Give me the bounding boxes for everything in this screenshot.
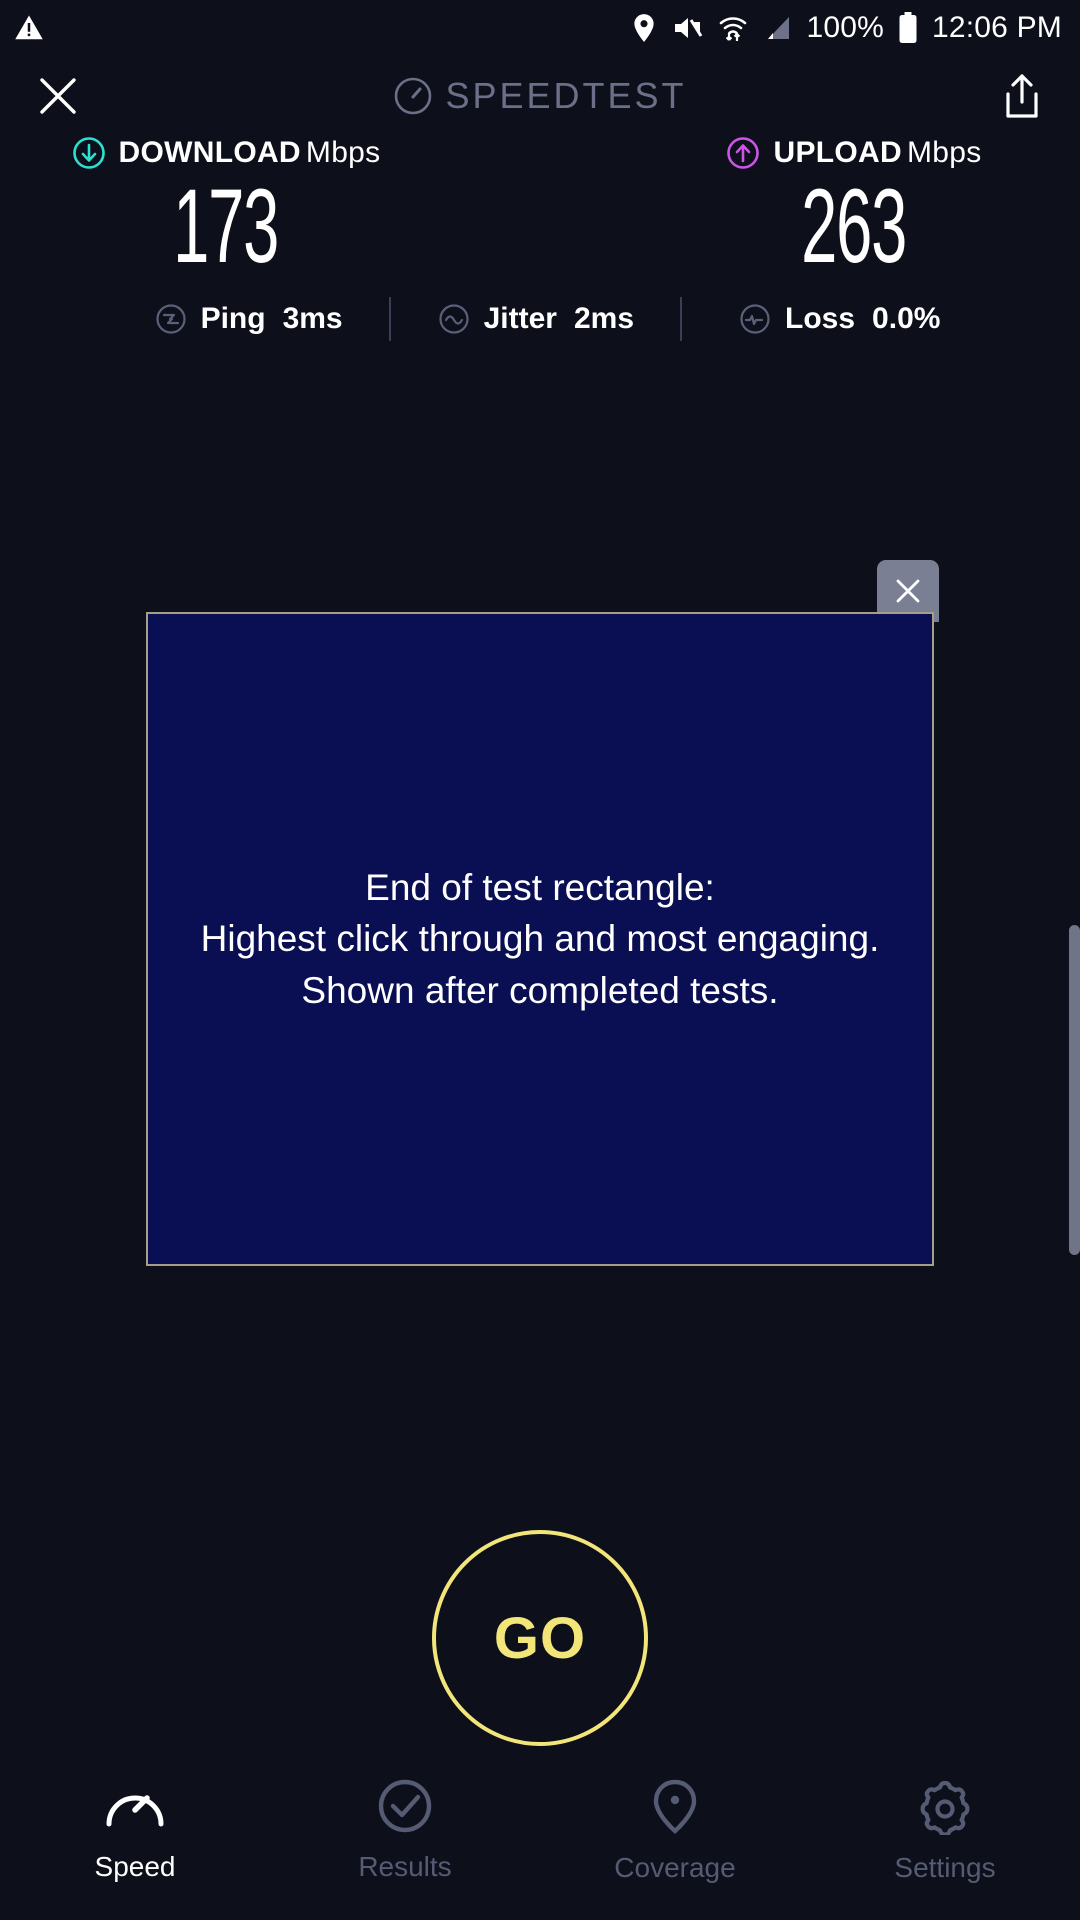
status-bar: 100% 12:06 PM: [0, 0, 1080, 56]
download-upload-row: DOWNLOADMbps 173 UPLOADMbps 263: [0, 136, 1080, 279]
metrics-row: Ping 3ms Jitter 2ms: [0, 297, 1080, 341]
upload-header: UPLOADMbps: [726, 136, 981, 170]
upload-arrow-icon: [726, 136, 760, 170]
status-bar-left: [14, 13, 44, 43]
scrollbar-thumb[interactable]: [1069, 925, 1080, 1255]
loss-label: Loss: [785, 302, 855, 336]
check-circle-icon: [375, 1778, 435, 1834]
volume-muted-icon: [672, 13, 704, 43]
ad-banner[interactable]: End of test rectangle: Highest click thr…: [146, 612, 934, 1266]
location-pin-icon: [630, 13, 658, 43]
nav-label-settings: Settings: [894, 1852, 995, 1884]
close-icon: [34, 72, 82, 120]
brand-title: SPEEDTEST: [445, 75, 686, 117]
metric-ping: Ping 3ms: [154, 302, 343, 336]
metric-divider: [389, 297, 391, 341]
wifi-transfer-icon: [718, 13, 748, 43]
clock-label: 12:06 PM: [932, 11, 1062, 45]
download-label: DOWNLOADMbps: [119, 136, 381, 170]
battery-full-icon: [898, 12, 918, 44]
nav-label-results: Results: [358, 1851, 451, 1883]
share-button[interactable]: [990, 64, 1054, 128]
download-result: DOWNLOADMbps 173: [0, 136, 544, 279]
ping-value: 3ms: [283, 302, 343, 336]
battery-percent-label: 100%: [806, 11, 884, 45]
speedometer-icon: [103, 1778, 167, 1834]
ad-text: End of test rectangle: Highest click thr…: [201, 862, 880, 1015]
metric-jitter: Jitter 2ms: [437, 302, 634, 336]
download-arrow-icon: [72, 136, 106, 170]
cell-signal-icon: [762, 13, 792, 43]
loss-icon: [738, 302, 772, 336]
upload-value: 263: [802, 174, 907, 279]
nav-item-speed[interactable]: Speed: [0, 1778, 270, 1883]
loss-value: 0.0%: [872, 302, 940, 336]
jitter-value: 2ms: [574, 302, 634, 336]
upload-result: UPLOADMbps 263: [544, 136, 1080, 279]
metric-loss: Loss 0.0%: [738, 302, 940, 336]
metric-divider: [680, 297, 682, 341]
nav-label-speed: Speed: [95, 1851, 176, 1883]
bottom-navigation-bar: Speed Results Coverage: [0, 1740, 1080, 1920]
jitter-label: Jitter: [484, 302, 557, 336]
nav-item-results[interactable]: Results: [270, 1778, 540, 1883]
status-bar-right: 100% 12:06 PM: [630, 11, 1062, 45]
close-icon: [891, 574, 925, 608]
speedtest-app-screen: 100% 12:06 PM: [0, 0, 1080, 1920]
gear-icon: [915, 1777, 975, 1835]
results-summary: DOWNLOADMbps 173 UPLOADMbps 263: [0, 136, 1080, 341]
brand-logo: SPEEDTEST: [90, 75, 990, 117]
ping-label: Ping: [201, 302, 266, 336]
download-header: DOWNLOADMbps: [72, 136, 381, 170]
app-header: SPEEDTEST: [0, 56, 1080, 136]
close-button[interactable]: [26, 64, 90, 128]
upload-label: UPLOADMbps: [773, 136, 981, 170]
go-button[interactable]: GO: [432, 1530, 648, 1746]
nav-label-coverage: Coverage: [614, 1852, 735, 1884]
warning-triangle-icon: [14, 13, 44, 43]
speedometer-icon: [393, 76, 433, 116]
jitter-icon: [437, 302, 471, 336]
map-pin-icon: [647, 1777, 703, 1835]
share-icon: [1000, 72, 1044, 120]
go-button-label: GO: [494, 1605, 586, 1672]
ping-icon: [154, 302, 188, 336]
download-value: 173: [174, 174, 279, 279]
nav-item-coverage[interactable]: Coverage: [540, 1777, 810, 1884]
nav-item-settings[interactable]: Settings: [810, 1777, 1080, 1884]
